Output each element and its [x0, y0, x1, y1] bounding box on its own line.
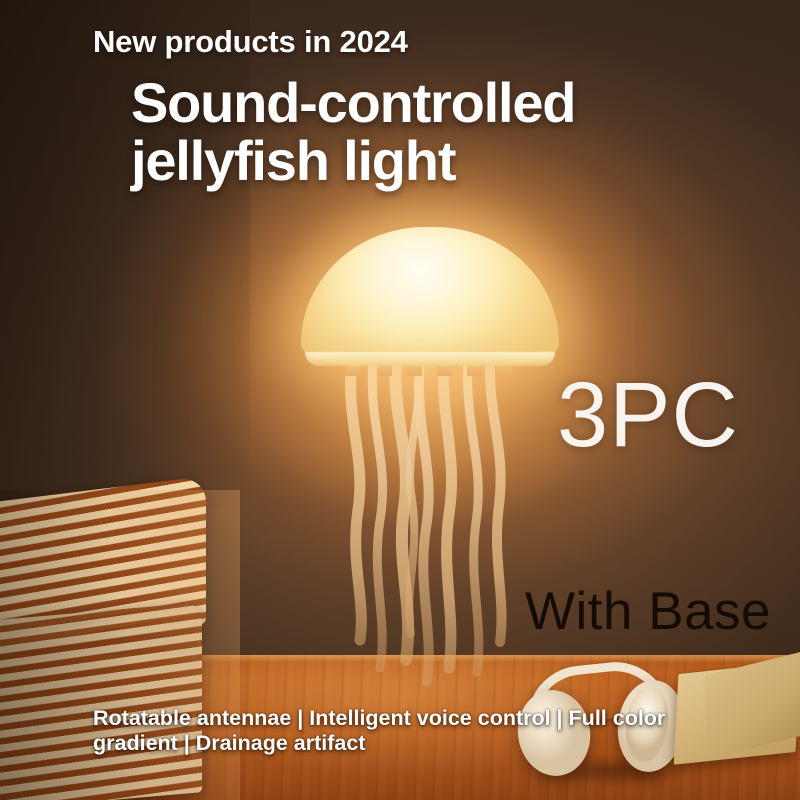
headline-line-1: Sound-controlled — [131, 74, 575, 132]
kicker-text: New products in 2024 — [93, 24, 408, 60]
feature-line-1: Rotatable antennae | Intelligent voice c… — [93, 706, 753, 731]
headline-line-2: jellyfish light — [131, 132, 575, 190]
lamp-dome-rim — [305, 352, 555, 366]
feature-list: Rotatable antennae | Intelligent voice c… — [93, 706, 753, 757]
feature-line-2: gradient | Drainage artifact — [93, 731, 753, 756]
accessory-badge: With Base — [525, 581, 771, 642]
quantity-badge: 3PC — [557, 363, 739, 468]
lamp-dome-shade — [301, 227, 559, 365]
product-banner-scene: New products in 2024 Sound-controlled je… — [0, 0, 800, 800]
page-title: Sound-controlled jellyfish light — [131, 74, 575, 189]
